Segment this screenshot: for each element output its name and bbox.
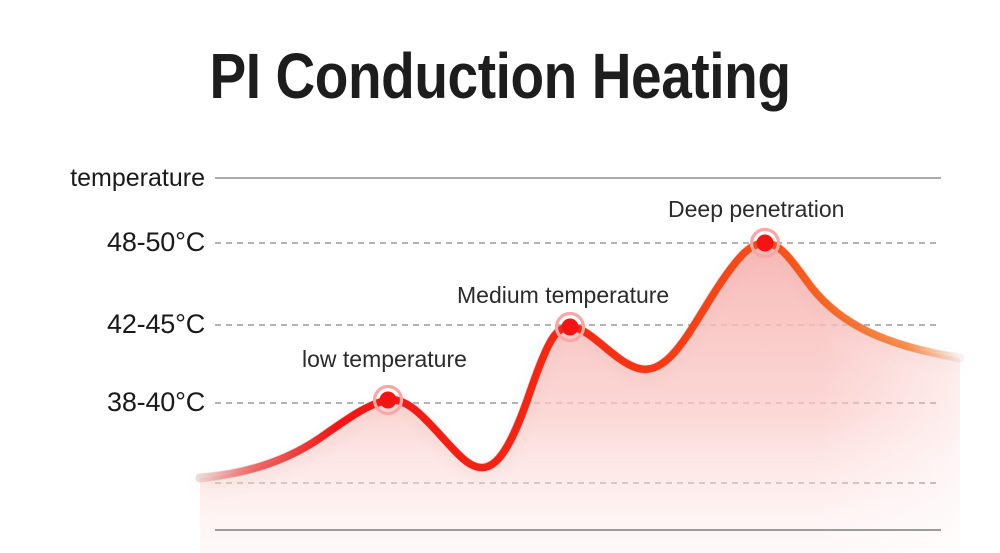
y-tick-label-38-40: 38-40°C xyxy=(0,388,205,416)
y-tick-label-48-50: 48-50°C xyxy=(0,228,205,256)
annotation-medium-temperature: Medium temperature xyxy=(457,282,669,308)
annotation-low-temperature: low temperature xyxy=(302,346,467,372)
temperature-chart xyxy=(0,0,1000,553)
y-tick-label-42-45: 42-45°C xyxy=(0,310,205,338)
annotation-deep-penetration: Deep penetration xyxy=(668,196,844,222)
y-axis-title: temperature xyxy=(0,164,205,192)
